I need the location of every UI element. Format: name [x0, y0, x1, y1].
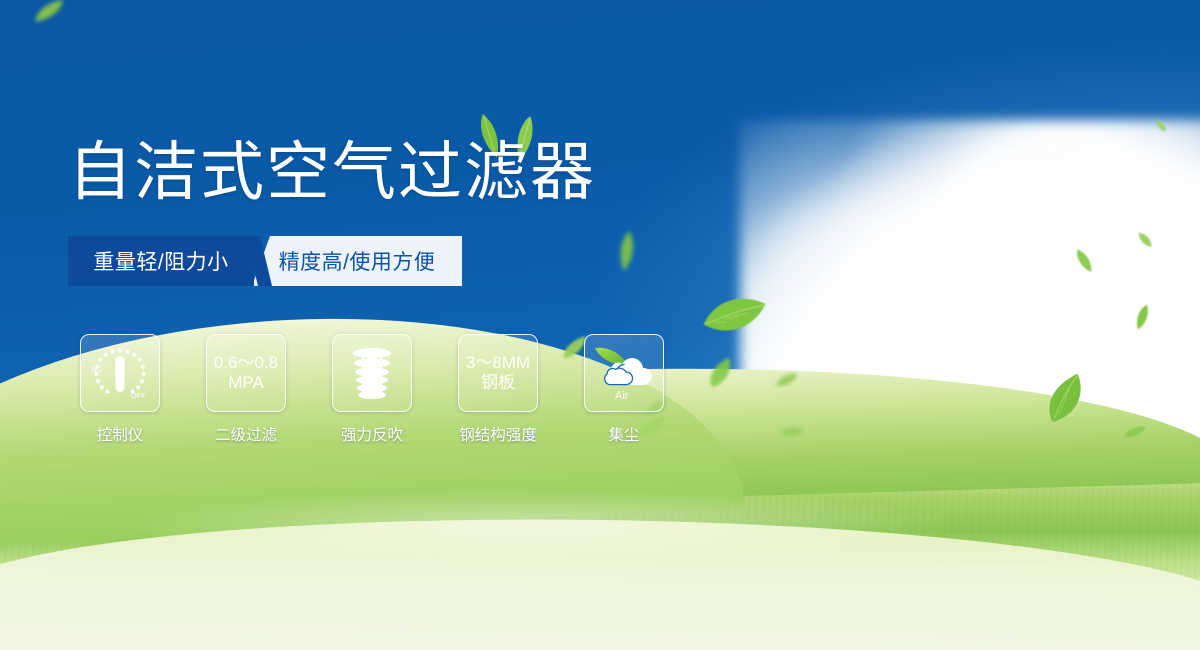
banner-content: 自洁式空气过滤器 重量轻/阻力小 精度高/使用方便	[0, 0, 1200, 650]
gauge-off-label: OFF	[131, 391, 146, 400]
pressure-unit: MPA	[214, 373, 278, 393]
gauge-on-label: NO	[91, 365, 102, 374]
feature-item-dust[interactable]: Air 集尘	[572, 334, 676, 445]
feature-item-blowback[interactable]: 强力反吹	[320, 334, 424, 445]
feature-icon-box: NO OFF	[80, 334, 160, 412]
filter-cartridge-icon	[343, 345, 401, 401]
feature-icon-box: 0.6～0.8 MPA	[206, 334, 286, 412]
feature-label: 强力反吹	[341, 423, 403, 445]
feature-item-control[interactable]: NO OFF 控制仪	[68, 334, 172, 445]
steel-plate-text-icon: 3～8MM 钢板	[466, 353, 530, 393]
feature-icon-box	[332, 334, 412, 412]
gauge-dial-icon: NO OFF	[89, 344, 151, 402]
feature-label: 二级过滤	[215, 423, 277, 445]
page-title: 自洁式空气过滤器	[68, 140, 596, 204]
subtitle-badge-secondary: 精度高/使用方便	[252, 236, 462, 286]
steel-material: 钢板	[466, 373, 530, 393]
subtitle-badge-primary: 重量轻/阻力小	[68, 236, 254, 286]
cloud-air-icon: Air	[593, 344, 655, 402]
feature-item-pressure[interactable]: 0.6～0.8 MPA 二级过滤	[194, 334, 298, 445]
feature-icon-box: 3～8MM 钢板	[458, 334, 538, 412]
subtitle-badge-group: 重量轻/阻力小 精度高/使用方便	[68, 236, 462, 286]
product-banner: 自洁式空气过滤器 重量轻/阻力小 精度高/使用方便	[0, 0, 1200, 650]
pressure-text-icon: 0.6～0.8 MPA	[214, 353, 278, 393]
feature-label: 钢结构强度	[459, 423, 537, 445]
feature-label: 控制仪	[97, 423, 144, 445]
cloud-air-label: Air	[615, 390, 629, 402]
feature-list: NO OFF 控制仪 0.6～0.8 MPA 二级过滤	[68, 334, 676, 445]
feature-item-steel[interactable]: 3～8MM 钢板 钢结构强度	[446, 334, 550, 445]
steel-thickness: 3～8MM	[466, 353, 530, 373]
pressure-value: 0.6～0.8	[214, 353, 278, 373]
feature-label: 集尘	[608, 423, 639, 445]
feature-icon-box: Air	[584, 334, 664, 412]
